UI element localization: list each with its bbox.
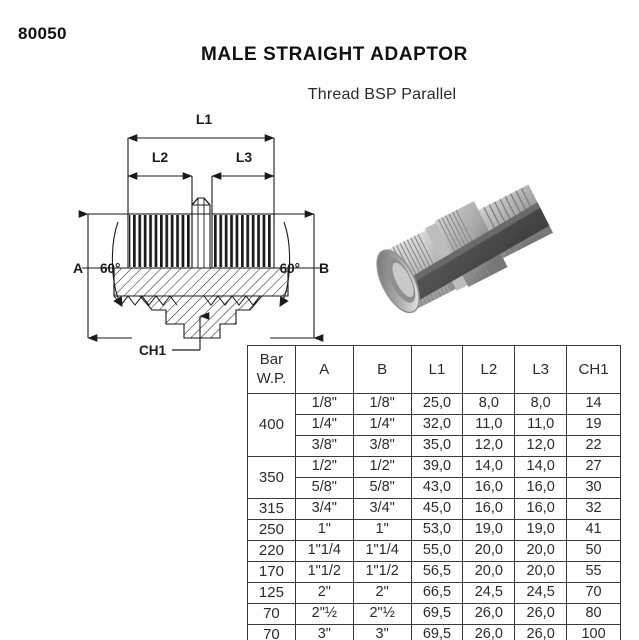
- column-header-bar-wp: Bar W.P.: [248, 346, 296, 394]
- cell-b: 1": [353, 520, 411, 541]
- cell-l1: 39,0: [411, 457, 463, 478]
- table-row: 2501"1"53,019,019,041: [248, 520, 621, 541]
- cell-l3: 8,0: [515, 394, 567, 415]
- cell-b: 1"1/4: [353, 541, 411, 562]
- column-header-l1: L1: [411, 346, 463, 394]
- cell-ch1: 19: [567, 415, 621, 436]
- cell-b: 1/8": [353, 394, 411, 415]
- cell-ch1: 80: [567, 604, 621, 625]
- dimension-label-l1: L1: [196, 111, 213, 127]
- cell-l2: 26,0: [463, 625, 515, 640]
- cell-bar-wp: 220: [248, 541, 296, 562]
- cell-bar-wp: 125: [248, 583, 296, 604]
- table-row: 1701"1/21"1/256,520,020,055: [248, 562, 621, 583]
- cell-a: 1/4": [295, 415, 353, 436]
- cell-l1: 45,0: [411, 499, 463, 520]
- cell-bar-wp: 350: [248, 457, 296, 499]
- cell-ch1: 50: [567, 541, 621, 562]
- cell-l2: 8,0: [463, 394, 515, 415]
- cell-l3: 16,0: [515, 499, 567, 520]
- cell-l1: 66,5: [411, 583, 463, 604]
- table-row: 3153/4"3/4"45,016,016,032: [248, 499, 621, 520]
- cell-bar-wp: 70: [248, 604, 296, 625]
- table-row: 4001/8"1/8"25,08,08,014: [248, 394, 621, 415]
- cell-bar-wp: 315: [248, 499, 296, 520]
- cell-a: 3": [295, 625, 353, 640]
- cell-l2: 16,0: [463, 499, 515, 520]
- cell-ch1: 55: [567, 562, 621, 583]
- cell-l1: 32,0: [411, 415, 463, 436]
- cell-l3: 19,0: [515, 520, 567, 541]
- spec-table-container: Bar W.P. A B L1 L2 L3 CH1 4001/8"1/8"25,…: [247, 345, 621, 640]
- cell-l3: 26,0: [515, 625, 567, 640]
- cell-l1: 35,0: [411, 436, 463, 457]
- cell-l2: 12,0: [463, 436, 515, 457]
- cell-l2: 19,0: [463, 520, 515, 541]
- cell-ch1: 32: [567, 499, 621, 520]
- datasheet-page: 80050 MALE STRAIGHT ADAPTOR Thread BSP P…: [0, 0, 639, 640]
- dimension-label-l2: L2: [152, 149, 169, 165]
- cell-l1: 55,0: [411, 541, 463, 562]
- cell-a: 1/8": [295, 394, 353, 415]
- cell-l3: 11,0: [515, 415, 567, 436]
- cell-l2: 26,0: [463, 604, 515, 625]
- cell-l3: 26,0: [515, 604, 567, 625]
- cell-a: 3/8": [295, 436, 353, 457]
- cell-l2: 24,5: [463, 583, 515, 604]
- column-header-a: A: [295, 346, 353, 394]
- page-title: MALE STRAIGHT ADAPTOR: [0, 44, 639, 66]
- cell-ch1: 41: [567, 520, 621, 541]
- column-header-ch1: CH1: [567, 346, 621, 394]
- cell-bar-wp: 170: [248, 562, 296, 583]
- cell-a: 5/8": [295, 478, 353, 499]
- cell-a: 1"1/2: [295, 562, 353, 583]
- cell-l2: 20,0: [463, 562, 515, 583]
- cell-l1: 43,0: [411, 478, 463, 499]
- cell-bar-wp: 250: [248, 520, 296, 541]
- dimension-label-a: A: [73, 260, 83, 276]
- header-bar-line2: W.P.: [257, 370, 287, 387]
- table-body: 4001/8"1/8"25,08,08,0141/4"1/4"32,011,01…: [248, 394, 621, 640]
- cell-ch1: 70: [567, 583, 621, 604]
- cell-a: 2": [295, 583, 353, 604]
- part-number: 80050: [18, 24, 67, 44]
- cell-l3: 24,5: [515, 583, 567, 604]
- cell-l3: 12,0: [515, 436, 567, 457]
- cell-l3: 20,0: [515, 541, 567, 562]
- cell-b: 3": [353, 625, 411, 640]
- cell-ch1: 22: [567, 436, 621, 457]
- table-row: 702"½2"½69,526,026,080: [248, 604, 621, 625]
- technical-drawing: L1 L2 L3: [52, 110, 342, 360]
- cell-b: 5/8": [353, 478, 411, 499]
- column-header-l3: L3: [515, 346, 567, 394]
- cell-b: 1"1/2: [353, 562, 411, 583]
- cell-a: 3/4": [295, 499, 353, 520]
- page-subtitle: Thread BSP Parallel: [0, 86, 639, 104]
- cell-b: 1/2": [353, 457, 411, 478]
- cell-ch1: 100: [567, 625, 621, 640]
- column-header-b: B: [353, 346, 411, 394]
- table-row: 3501/2"1/2"39,014,014,027: [248, 457, 621, 478]
- angle-label-left: 60°: [100, 261, 120, 276]
- cell-l1: 69,5: [411, 604, 463, 625]
- cell-b: 2": [353, 583, 411, 604]
- angle-label-right: 60°: [280, 261, 300, 276]
- cell-l1: 25,0: [411, 394, 463, 415]
- cell-a: 2"½: [295, 604, 353, 625]
- cell-ch1: 30: [567, 478, 621, 499]
- cell-l3: 16,0: [515, 478, 567, 499]
- cell-l2: 11,0: [463, 415, 515, 436]
- dimension-label-ch1: CH1: [139, 343, 166, 358]
- table-row: 703"3"69,526,026,0100: [248, 625, 621, 640]
- cell-l2: 14,0: [463, 457, 515, 478]
- cell-l2: 16,0: [463, 478, 515, 499]
- cell-b: 1/4": [353, 415, 411, 436]
- cell-ch1: 27: [567, 457, 621, 478]
- cell-b: 3/8": [353, 436, 411, 457]
- cell-a: 1"1/4: [295, 541, 353, 562]
- cell-a: 1": [295, 520, 353, 541]
- column-header-l2: L2: [463, 346, 515, 394]
- table-row: 3/8"3/8"35,012,012,022: [248, 436, 621, 457]
- cell-l3: 20,0: [515, 562, 567, 583]
- table-row: 1252"2"66,524,524,570: [248, 583, 621, 604]
- table-row: 2201"1/41"1/455,020,020,050: [248, 541, 621, 562]
- table-row: 5/8"5/8"43,016,016,030: [248, 478, 621, 499]
- cell-b: 3/4": [353, 499, 411, 520]
- cell-l1: 69,5: [411, 625, 463, 640]
- table-row: 1/4"1/4"32,011,011,019: [248, 415, 621, 436]
- header-bar-line1: Bar: [260, 351, 283, 368]
- cell-l1: 53,0: [411, 520, 463, 541]
- cell-a: 1/2": [295, 457, 353, 478]
- cell-b: 2"½: [353, 604, 411, 625]
- cell-ch1: 14: [567, 394, 621, 415]
- cell-l1: 56,5: [411, 562, 463, 583]
- cell-l3: 14,0: [515, 457, 567, 478]
- dimension-label-l3: L3: [236, 149, 253, 165]
- cell-bar-wp: 70: [248, 625, 296, 640]
- table-header-row: Bar W.P. A B L1 L2 L3 CH1: [248, 346, 621, 394]
- cell-l2: 20,0: [463, 541, 515, 562]
- spec-table: Bar W.P. A B L1 L2 L3 CH1 4001/8"1/8"25,…: [247, 345, 621, 640]
- product-photo: [352, 148, 602, 333]
- cell-bar-wp: 400: [248, 394, 296, 457]
- dimension-label-b: B: [319, 260, 329, 276]
